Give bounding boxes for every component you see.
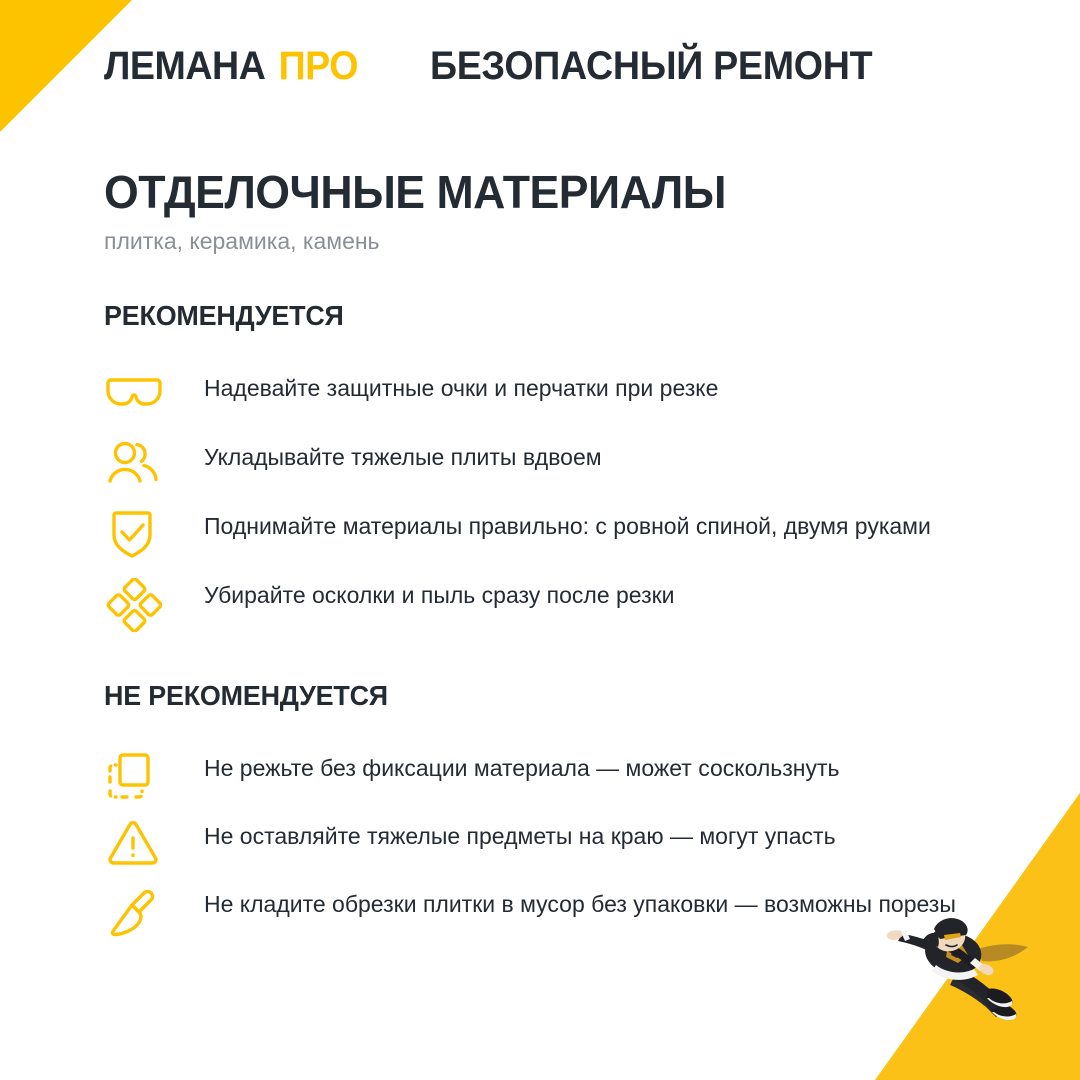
- list-item: Не оставляйте тяжелые предметы на краю —…: [104, 818, 956, 880]
- section-heading-recommended: РЕКОМЕНДУЕТСЯ: [104, 300, 898, 332]
- list-item: Убирайте осколки и пыль сразу после резк…: [104, 577, 931, 639]
- title-block: ОТДЕЛОЧНЫЕ МАТЕРИАЛЫ плитка, керамика, к…: [104, 168, 745, 255]
- list-item: Не кладите обрезки плитки в мусор без уп…: [104, 886, 956, 948]
- section-not-recommended: НЕ РЕКОМЕНДУЕТСЯ Не режьте без фиксации …: [104, 680, 956, 954]
- brand-logo: ЛЕМАНА ПРО: [104, 44, 358, 89]
- page-subtitle: плитка, керамика, камень: [104, 228, 745, 255]
- list-item: Поднимайте материалы правильно: с ровной…: [104, 508, 931, 570]
- header: ЛЕМАНА ПРО БЕЗОПАСНЫЙ РЕМОНТ: [104, 44, 901, 89]
- list-item-text: Не кладите обрезки плитки в мусор без уп…: [204, 886, 956, 921]
- recommended-list: Надевайте защитные очки и перчатки при р…: [104, 370, 931, 646]
- two-people-icon: [104, 439, 204, 486]
- not-recommended-list: Не режьте без фиксации материала — может…: [104, 750, 956, 954]
- list-item-text: Укладывайте тяжелые плиты вдвоем: [204, 439, 602, 474]
- page-title: ОТДЕЛОЧНЫЕ МАТЕРИАЛЫ: [104, 168, 726, 216]
- brand-logo-accent: ПРО: [279, 44, 358, 89]
- section-recommended: РЕКОМЕНДУЕТСЯ Надевайте защитные очки и …: [104, 300, 931, 646]
- flying-superhero-worker-mascot: [882, 913, 1042, 1038]
- safety-goggles-icon: [104, 370, 204, 411]
- list-item-text: Поднимайте материалы правильно: с ровной…: [204, 508, 931, 543]
- list-item: Укладывайте тяжелые плиты вдвоем: [104, 439, 931, 501]
- list-item-text: Убирайте осколки и пыль сразу после резк…: [204, 577, 675, 612]
- list-item-text: Надевайте защитные очки и перчатки при р…: [204, 370, 718, 405]
- warning-triangle-icon: [104, 818, 204, 867]
- list-item-text: Не оставляйте тяжелые предметы на краю —…: [204, 818, 836, 853]
- unfixed-selection-icon: [104, 750, 204, 801]
- list-item: Надевайте защитные очки и перчатки при р…: [104, 370, 931, 432]
- knife-icon: [104, 886, 204, 939]
- campaign-tagline: БЕЗОПАСНЫЙ РЕМОНТ: [430, 44, 872, 89]
- poster-canvas: ЛЕМАНА ПРО БЕЗОПАСНЫЙ РЕМОНТ ОТДЕЛОЧНЫЕ …: [0, 0, 1080, 1080]
- tiles-diamond-icon: [104, 577, 204, 632]
- section-heading-not-recommended: НЕ РЕКОМЕНДУЕТСЯ: [104, 680, 922, 712]
- shield-check-icon: [104, 508, 204, 559]
- list-item-text: Не режьте без фиксации материала — может…: [204, 750, 840, 785]
- list-item: Не режьте без фиксации материала — может…: [104, 750, 956, 812]
- brand-logo-primary: ЛЕМАНА: [104, 44, 265, 89]
